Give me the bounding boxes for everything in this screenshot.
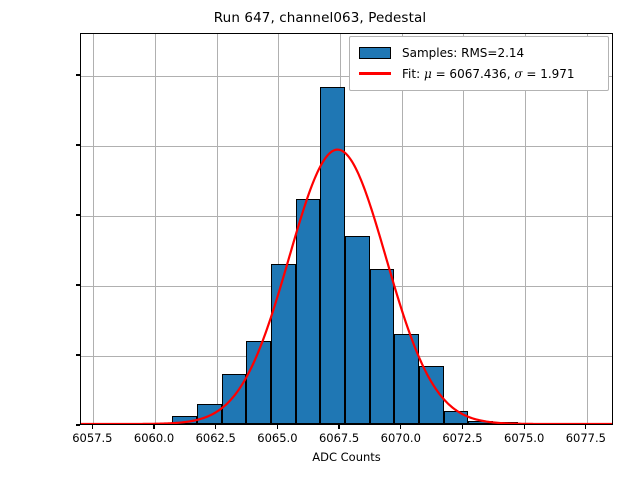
- histogram-bar: [222, 374, 247, 424]
- x-tick-label: 6070.0: [381, 431, 421, 445]
- x-tick-mark: [462, 425, 463, 429]
- matplotlib-figure: Run 647, channel063, Pedestal Entries AD…: [0, 0, 640, 480]
- x-tick-label: 6057.5: [72, 431, 112, 445]
- legend: Samples: RMS=2.14 Fit: μ = 6067.436, σ =…: [349, 36, 609, 91]
- x-tick-label: 6072.5: [442, 431, 482, 445]
- legend-line-swatch-icon: [356, 72, 394, 74]
- legend-sigma-value: = 1.971: [523, 67, 575, 81]
- histogram-bar: [172, 416, 197, 424]
- gridline-vertical: [525, 34, 526, 424]
- legend-bar-swatch-icon: [356, 47, 394, 59]
- histogram-bar: [271, 264, 296, 424]
- x-tick-label: 6065.0: [257, 431, 297, 445]
- x-tick-mark: [277, 425, 278, 429]
- x-tick-mark: [215, 425, 216, 429]
- histogram-bar: [468, 421, 493, 425]
- x-tick-mark: [338, 425, 339, 429]
- gridline-vertical: [463, 34, 464, 424]
- gridline-horizontal: [81, 216, 612, 217]
- x-tick-label: 6075.0: [504, 431, 544, 445]
- gridline-vertical: [587, 34, 588, 424]
- x-tick-mark: [153, 425, 154, 429]
- x-axis-label: ADC Counts: [80, 450, 613, 464]
- legend-label-samples: Samples: RMS=2.14: [402, 46, 524, 60]
- x-tick-mark: [400, 425, 401, 429]
- gridline-vertical: [217, 34, 218, 424]
- gridline-horizontal: [81, 146, 612, 147]
- histogram-bar: [444, 411, 469, 424]
- plot-area: [80, 33, 613, 425]
- histogram-bar: [493, 422, 518, 424]
- x-tick-label: 6077.5: [566, 431, 606, 445]
- x-tick-label: 6067.5: [319, 431, 359, 445]
- legend-mu-value: = 6067.436,: [432, 67, 515, 81]
- x-tick-label: 6062.5: [196, 431, 236, 445]
- page-title: Run 647, channel063, Pedestal: [0, 10, 640, 26]
- x-tick-mark: [92, 425, 93, 429]
- histogram-bar: [370, 269, 395, 424]
- x-tick-mark: [524, 425, 525, 429]
- histogram-bar: [345, 236, 370, 424]
- x-tick-mark: [585, 425, 586, 429]
- histogram-bar: [320, 87, 345, 424]
- gridline-vertical: [93, 34, 94, 424]
- legend-entry-fit: Fit: μ = 6067.436, σ = 1.971: [356, 63, 602, 84]
- legend-fit-prefix: Fit:: [402, 67, 424, 81]
- histogram-bar: [246, 341, 271, 424]
- gridline-vertical: [155, 34, 156, 424]
- legend-entry-samples: Samples: RMS=2.14: [356, 42, 602, 63]
- legend-sigma-symbol: σ: [514, 67, 522, 81]
- x-tick-label: 6060.0: [134, 431, 174, 445]
- histogram-bar: [296, 199, 321, 424]
- legend-label-fit: Fit: μ = 6067.436, σ = 1.971: [402, 67, 575, 81]
- histogram-bar: [419, 366, 444, 424]
- legend-mu-symbol: μ: [424, 67, 432, 81]
- histogram-bar: [197, 404, 222, 424]
- histogram-bar: [394, 334, 419, 424]
